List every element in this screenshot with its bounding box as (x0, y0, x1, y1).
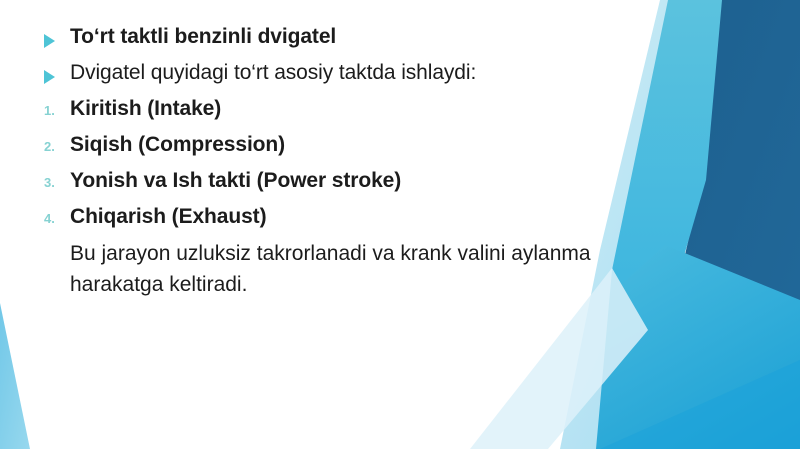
list-number-label: 4. (44, 204, 55, 234)
list-number: 1. (44, 94, 70, 126)
numbered-item: 2. Siqish (Compression) (44, 130, 704, 166)
numbered-item-text-1: Kiritish (Intake) (70, 94, 221, 124)
list-number-label: 1. (44, 96, 55, 126)
bullet-line: Dvigatel quyidagi to‘rt asosiy taktda is… (44, 58, 704, 94)
list-number: 2. (44, 130, 70, 162)
list-number: 3. (44, 166, 70, 198)
numbered-item: 4. Chiqarish (Exhaust) (44, 202, 704, 238)
list-number-label: 2. (44, 132, 55, 162)
numbered-item-text-4: Chiqarish (Exhaust) (70, 202, 266, 232)
numbered-item: 1. Kiritish (Intake) (44, 94, 704, 130)
list-number-label: 3. (44, 168, 55, 198)
closing-paragraph: Bu jarayon uzluksiz takrorlanadi va kran… (70, 238, 704, 300)
numbered-item-text-3: Yonish va Ish takti (Power stroke) (70, 166, 401, 196)
decor-cyan-sliver (600, 360, 800, 449)
list-number: 4. (44, 202, 70, 234)
closing-paragraph-line-1: Bu jarayon uzluksiz takrorlanadi va kran… (70, 238, 704, 269)
bullet-line: To‘rt taktli benzinli dvigatel (44, 22, 704, 58)
slide-canvas: To‘rt taktli benzinli dvigatel Dvigatel … (0, 0, 800, 449)
slide-content: To‘rt taktli benzinli dvigatel Dvigatel … (44, 22, 704, 300)
bullet-text-0: To‘rt taktli benzinli dvigatel (70, 22, 336, 52)
numbered-item-text-2: Siqish (Compression) (70, 130, 285, 160)
closing-paragraph-line-2: harakatga keltiradi. (70, 269, 704, 300)
decor-bottom-left-triangle (0, 303, 30, 449)
bullet-text-1: Dvigatel quyidagi to‘rt asosiy taktda is… (70, 58, 476, 88)
triangle-bullet-icon (44, 58, 70, 90)
numbered-item: 3. Yonish va Ish takti (Power stroke) (44, 166, 704, 202)
triangle-bullet-icon (44, 22, 70, 54)
